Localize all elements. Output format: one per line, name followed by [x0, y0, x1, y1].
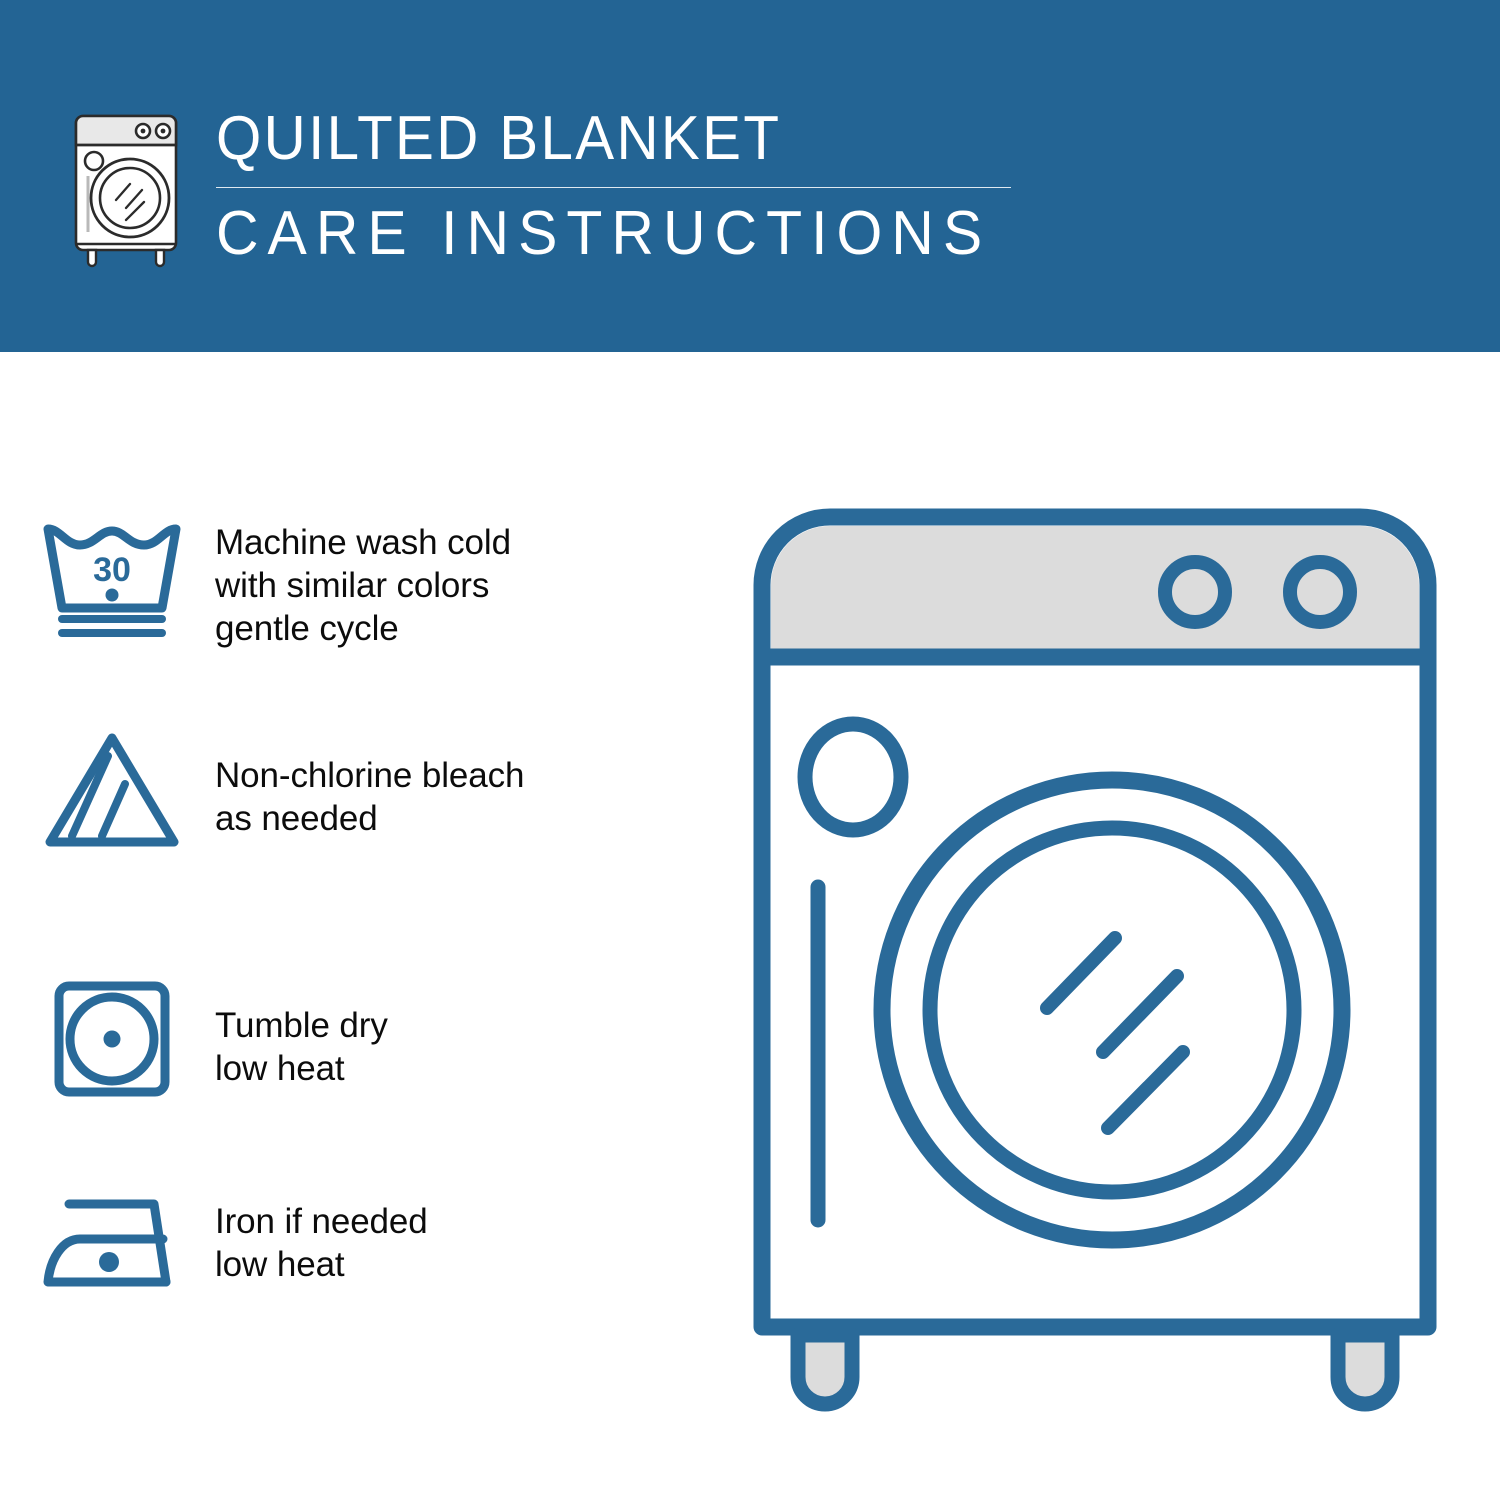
non-chlorine-bleach-triangle-icon [0, 724, 215, 854]
machine-wash-30-gentle-icon: 30 [0, 515, 215, 645]
care-item-iron: Iron if needed low heat [0, 1182, 720, 1302]
care-item-label: Machine wash cold with similar colors ge… [215, 515, 511, 650]
leg-right [1338, 1335, 1392, 1404]
leg-left [798, 1335, 852, 1404]
detergent-dial [805, 724, 901, 830]
care-instruction-list: 30 Machine wash cold with similar colors… [0, 352, 720, 1500]
iron-low-heat-icon [0, 1182, 215, 1302]
care-item-label: Non-chlorine bleach as needed [215, 724, 524, 840]
wash-temperature-label: 30 [93, 551, 131, 589]
care-item-machine-wash: 30 Machine wash cold with similar colors… [0, 515, 720, 650]
front-load-washing-machine-illustration [740, 495, 1450, 1425]
washing-machine-icon [64, 108, 190, 268]
header-title-group: QUILTED BLANKET CARE INSTRUCTIONS [216, 104, 1028, 270]
care-item-bleach: Non-chlorine bleach as needed [0, 724, 720, 854]
care-item-tumble-dry: Tumble dry low heat [0, 970, 720, 1100]
title-divider [216, 187, 1011, 188]
page-title: QUILTED BLANKET [216, 104, 979, 174]
page-subtitle: CARE INSTRUCTIONS [216, 198, 987, 270]
knob-right [1290, 562, 1350, 622]
care-item-label: Tumble dry low heat [215, 970, 388, 1090]
care-item-label: Iron if needed low heat [215, 1182, 428, 1286]
care-instructions-infographic: QUILTED BLANKET CARE INSTRUCTIONS 30 [0, 0, 1500, 1500]
knob-left [1165, 562, 1225, 622]
tumble-dry-low-heat-icon [0, 970, 215, 1100]
header-banner: QUILTED BLANKET CARE INSTRUCTIONS [0, 0, 1500, 352]
